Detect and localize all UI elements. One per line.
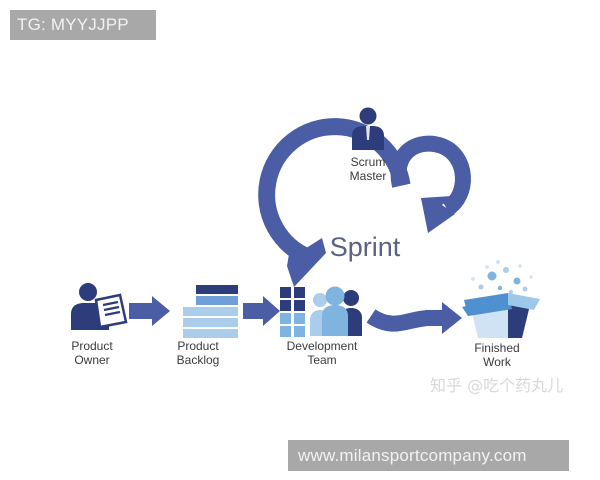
node-development-team: Development Team [280,287,362,368]
zhihu-watermark: 知乎 @吃个药丸儿 [430,372,563,396]
sprint-small-loop [399,144,463,233]
node-product-owner: Product Owner [71,283,126,367]
node-label-line2: Work [483,355,512,369]
node-label-line1: Finished [474,341,519,355]
arrow-backlog-to-team [243,296,280,326]
node-label-line2: Team [307,353,336,367]
open-box-with-sparkles-icon [462,260,540,338]
url-watermark-banner: www.milansportcompany.com [288,440,569,471]
node-label-line1: Product [177,339,219,353]
person-with-document-icon [71,283,126,330]
node-label-line1: Scrum [351,155,386,169]
node-scrum-master: Scrum Master [350,108,387,184]
arrow-owner-to-backlog [129,296,170,326]
person-icon [352,108,384,151]
node-label-line2: Backlog [177,353,220,367]
stacked-bars-icon [183,285,238,338]
node-label-line2: Owner [74,353,109,367]
diagram-canvas: TG: MYYJJPP Sprint Scrum [0,0,600,480]
node-label-line1: Product [71,339,113,353]
node-label-line1: Development [287,339,358,353]
url-banner-text: www.milansportcompany.com [298,446,527,466]
scrum-process-diagram: Sprint Scrum Master Product [0,0,600,480]
sprint-center-label: Sprint [330,232,401,262]
node-finished-work: Finished Work [462,260,540,369]
node-label-line2: Master [350,169,387,183]
node-product-backlog: Product Backlog [177,285,238,367]
arrow-sprint-to-finished [425,302,462,334]
people-group-icon [310,287,362,337]
task-grid-icon [280,287,305,337]
